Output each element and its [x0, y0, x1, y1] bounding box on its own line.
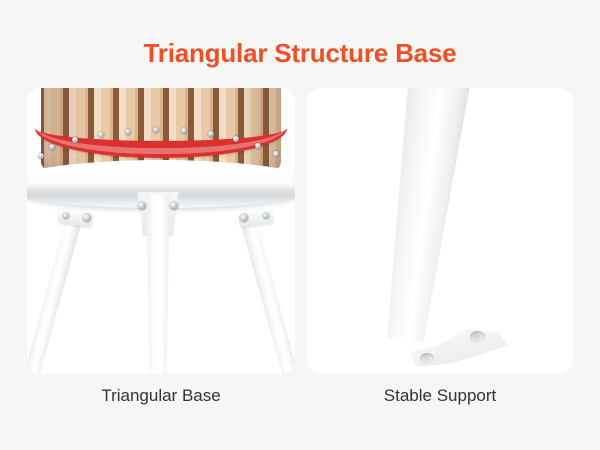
support-leg-left [27, 213, 83, 374]
support-leg-right [239, 213, 295, 374]
leg-bolt [83, 214, 91, 222]
base-plate-highlight [33, 162, 289, 182]
product-photo-stable-support [307, 88, 573, 374]
band-rivet [181, 128, 187, 134]
image-card-triangular-base[interactable] [27, 88, 295, 374]
band-rivet [255, 143, 261, 149]
band-rivet [72, 137, 78, 143]
product-photo-triangular-base [27, 88, 295, 374]
foot-mounting-hole [420, 353, 434, 364]
center-leg-bolt [138, 202, 146, 210]
band-rivet [153, 127, 159, 133]
foot-mounting-hole [470, 331, 485, 343]
closeup-support-leg-edge [348, 88, 490, 347]
center-leg-bolt [170, 202, 178, 210]
leg-bolt [63, 213, 69, 219]
band-rivet [49, 144, 55, 150]
leg-bolt [240, 214, 248, 222]
band-rivet [38, 153, 44, 159]
page-root: Triangular Structure Base [0, 0, 600, 450]
band-rivet [233, 136, 239, 142]
band-rivet [98, 132, 104, 138]
page-title: Triangular Structure Base [0, 38, 600, 69]
band-rivet [208, 131, 214, 137]
caption-triangular-base: Triangular Base [27, 386, 295, 406]
leg-bolt [263, 213, 269, 219]
caption-stable-support: Stable Support [307, 386, 573, 406]
band-rivet [125, 129, 131, 135]
band-rivet [273, 151, 279, 157]
image-card-stable-support[interactable] [307, 88, 573, 374]
